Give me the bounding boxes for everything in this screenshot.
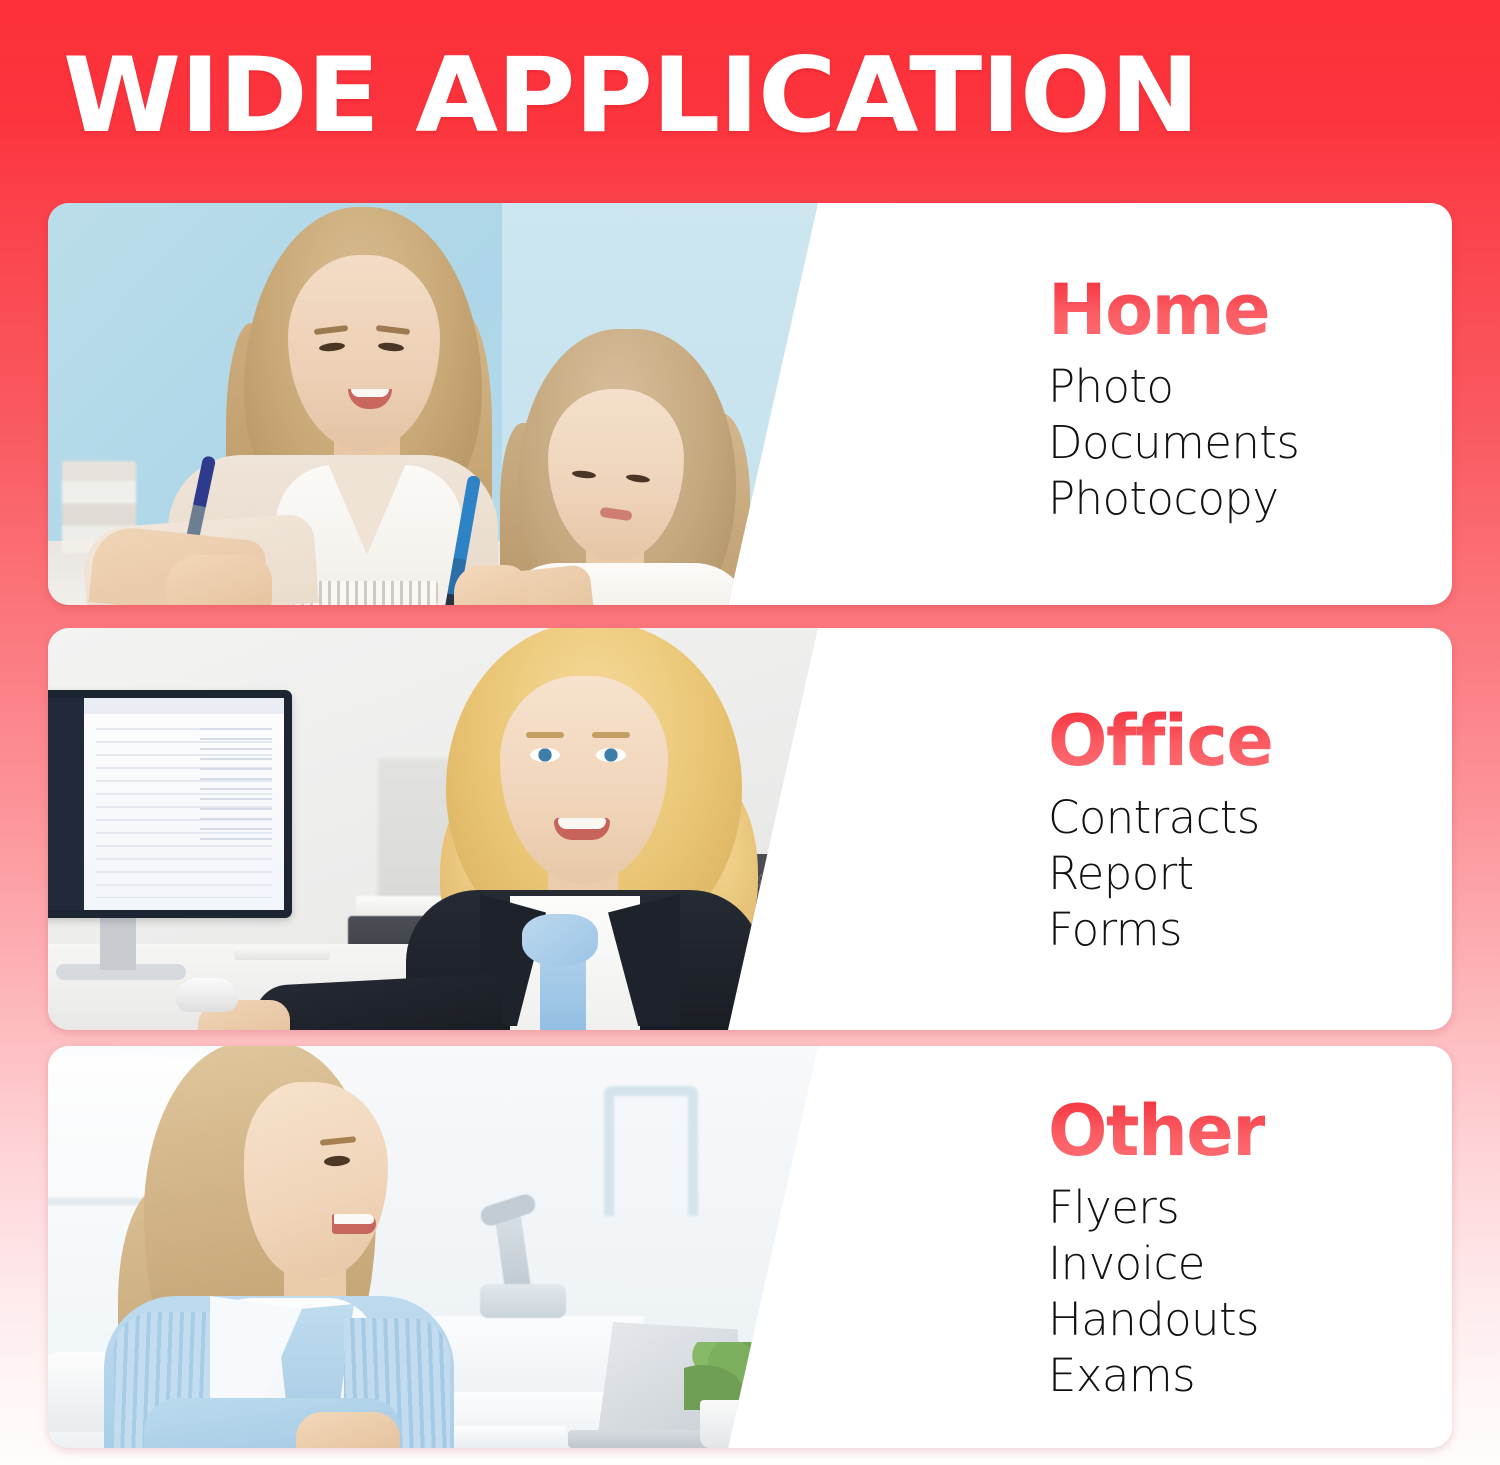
page-title: WIDE APPLICATION <box>63 42 1199 150</box>
category-title-home: Home <box>1048 275 1269 345</box>
list-item: Documents <box>1048 415 1299 471</box>
application-card-other: Other Flyers Invoice Handouts Exams <box>48 1046 1452 1448</box>
list-item: Forms <box>1048 902 1260 958</box>
application-card-office: Office Contracts Report Forms <box>48 628 1452 1030</box>
category-title-office: Office <box>1048 706 1272 776</box>
photo-shelf-frame <box>604 1086 698 1216</box>
list-item: Flyers <box>1048 1180 1259 1236</box>
photo-woman-hand <box>166 555 272 605</box>
photo-panel-other <box>48 1046 818 1448</box>
list-item: Exams <box>1048 1348 1259 1404</box>
photo-microscope-base <box>480 1284 566 1318</box>
photo-paper-sheet <box>448 1426 566 1448</box>
photo-panel-office <box>48 628 818 1030</box>
photo-screen-toolbar <box>84 698 284 714</box>
list-item: Report <box>1048 846 1260 902</box>
photo-panel-home <box>48 203 818 605</box>
list-item: Handouts <box>1048 1292 1259 1348</box>
application-card-home: Home Photo Documents Photocopy <box>48 203 1452 605</box>
photo-computer-mouse <box>176 978 238 1012</box>
photo-woman-eyebrow-right <box>592 732 630 738</box>
photo-screen-sidebar <box>48 698 84 910</box>
photo-woman-eyebrow-left <box>526 732 564 738</box>
text-panel-office: Office Contracts Report Forms <box>1000 628 1452 1030</box>
photo-office-businesswoman <box>48 628 818 1030</box>
list-item: Photo <box>1048 359 1299 415</box>
photo-woman-eye-right <box>596 748 626 762</box>
category-title-other: Other <box>1048 1096 1265 1166</box>
list-item: Photocopy <box>1048 471 1299 527</box>
photo-blue-bow <box>522 914 598 966</box>
photo-woman-teeth <box>334 1214 374 1224</box>
text-panel-other: Other Flyers Invoice Handouts Exams <box>1000 1046 1452 1448</box>
photo-woman-clasped-hands <box>296 1412 400 1448</box>
photo-test-tubes <box>760 1352 818 1444</box>
infographic-page: WIDE APPLICATION <box>0 0 1500 1465</box>
category-list-office: Contracts Report Forms <box>1048 790 1260 958</box>
text-panel-home: Home Photo Documents Photocopy <box>1000 203 1452 605</box>
photo-woman-eye-left <box>530 748 560 762</box>
photo-plant-pot <box>700 1400 760 1448</box>
category-list-home: Photo Documents Photocopy <box>1048 359 1299 527</box>
photo-girl-hand <box>454 565 528 605</box>
category-list-other: Flyers Invoice Handouts Exams <box>1048 1180 1259 1404</box>
photo-woman-teeth <box>558 818 606 829</box>
photo-monitor-stand <box>100 918 136 970</box>
header-banner: WIDE APPLICATION <box>0 0 1500 190</box>
list-item: Invoice <box>1048 1236 1259 1292</box>
photo-home-mother-and-daughter <box>48 203 818 605</box>
photo-lab-woman <box>48 1046 818 1448</box>
photo-keyboard <box>234 946 330 960</box>
photo-screen-text-column <box>200 728 272 848</box>
list-item: Contracts <box>1048 790 1260 846</box>
